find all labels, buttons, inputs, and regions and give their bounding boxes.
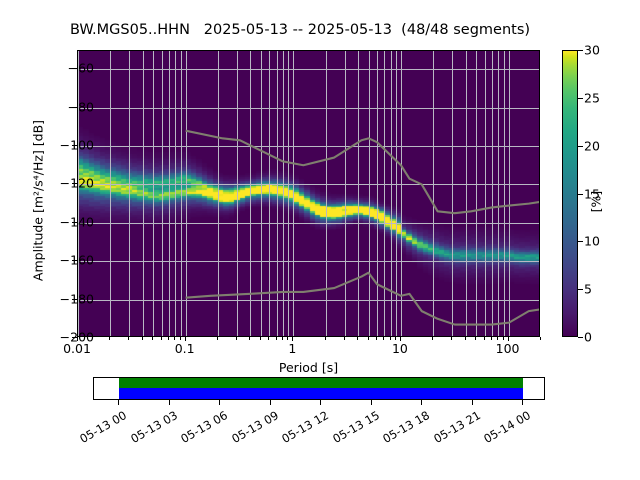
colorbar-tick-mark xyxy=(578,50,583,51)
x-tick-mark-minor xyxy=(168,337,169,340)
x-axis-label: Period [s] xyxy=(77,360,540,375)
coverage-bar-data xyxy=(119,378,523,388)
x-tick-label: 0.1 xyxy=(145,341,225,356)
x-tick-mark-minor xyxy=(368,337,369,340)
x-tick-mark-minor xyxy=(503,337,504,340)
x-tick-mark-minor xyxy=(236,337,237,340)
x-tick-mark-minor xyxy=(475,337,476,340)
x-tick-mark-minor xyxy=(268,337,269,340)
coverage-bar-psd xyxy=(119,388,523,399)
low-noise-model-curve xyxy=(186,273,540,325)
x-tick-mark-minor xyxy=(376,337,377,340)
colorbar-tick-mark xyxy=(578,289,583,290)
x-tick-mark-minor xyxy=(540,337,541,340)
x-tick-mark-minor xyxy=(282,337,283,340)
x-tick-mark-minor xyxy=(260,337,261,340)
x-tick-mark-minor xyxy=(174,337,175,340)
x-tick-mark-minor xyxy=(276,337,277,340)
ppsd-figure: BW.MGS05..HHN 2025-05-13 -- 2025-05-13 (… xyxy=(0,0,640,480)
colorbar-tick-label: 25 xyxy=(584,90,600,105)
x-tick-mark-minor xyxy=(395,337,396,340)
colorbar-tick-mark xyxy=(578,337,583,338)
x-tick-mark-minor xyxy=(491,337,492,340)
x-tick-label: 0.01 xyxy=(37,341,117,356)
high-noise-model-curve xyxy=(186,131,540,214)
x-tick-mark-minor xyxy=(432,337,433,340)
x-tick-label: 10 xyxy=(360,341,440,356)
figure-title: BW.MGS05..HHN 2025-05-13 -- 2025-05-13 (… xyxy=(0,22,600,38)
timeline-tick-mark xyxy=(472,400,473,405)
x-tick-mark-minor xyxy=(109,337,110,340)
colorbar[interactable] xyxy=(562,50,578,337)
timeline-tick-mark xyxy=(421,400,422,405)
colorbar-tick-mark xyxy=(578,194,583,195)
x-tick-mark-minor xyxy=(128,337,129,340)
x-tick-mark-minor xyxy=(383,337,384,340)
timeline-tick-mark xyxy=(118,400,119,405)
timeline-tick-mark xyxy=(320,400,321,405)
timeline-tick-mark xyxy=(270,400,271,405)
timeline-tick-mark xyxy=(371,400,372,405)
x-tick-mark-minor xyxy=(180,337,181,340)
x-tick-mark-minor xyxy=(142,337,143,340)
x-tick-mark-minor xyxy=(465,337,466,340)
colorbar-tick-label: 30 xyxy=(584,43,600,58)
x-tick-mark-minor xyxy=(497,337,498,340)
colorbar-label: [%] xyxy=(589,162,604,242)
x-tick-mark-minor xyxy=(344,337,345,340)
x-tick-mark-minor xyxy=(390,337,391,340)
colorbar-tick-mark xyxy=(578,98,583,99)
timeline-tick-mark xyxy=(219,400,220,405)
colorbar-tick-label: 20 xyxy=(584,138,600,153)
x-tick-label: 1 xyxy=(252,341,332,356)
timeline-tick-mark xyxy=(522,400,523,405)
data-coverage-timeline[interactable] xyxy=(93,377,545,400)
x-tick-mark-minor xyxy=(287,337,288,340)
x-tick-label: 100 xyxy=(468,341,548,356)
colorbar-tick-mark xyxy=(578,241,583,242)
y-axis-label: Amplitude [m²/s⁴/Hz] [dB] xyxy=(31,71,46,331)
noise-model-curves xyxy=(78,51,540,337)
x-tick-mark-minor xyxy=(217,337,218,340)
colorbar-tick-label: 0 xyxy=(584,330,592,345)
timeline-tick-mark xyxy=(169,400,170,405)
colorbar-tick-label: 5 xyxy=(584,282,592,297)
x-tick-mark-minor xyxy=(484,337,485,340)
x-tick-mark-minor xyxy=(152,337,153,340)
x-tick-mark-minor xyxy=(161,337,162,340)
x-tick-mark-minor xyxy=(325,337,326,340)
x-tick-mark-minor xyxy=(249,337,250,340)
x-tick-mark-minor xyxy=(451,337,452,340)
ppsd-axes[interactable] xyxy=(77,50,540,337)
colorbar-tick-mark xyxy=(578,146,583,147)
x-tick-mark-minor xyxy=(357,337,358,340)
